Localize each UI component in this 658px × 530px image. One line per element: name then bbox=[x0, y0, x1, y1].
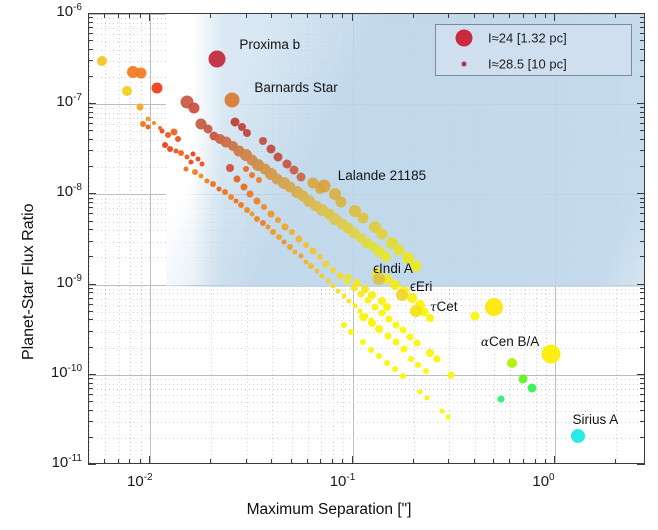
data-point bbox=[158, 126, 162, 130]
data-point bbox=[385, 315, 392, 322]
data-point bbox=[226, 164, 234, 172]
y-tick-minor-right bbox=[640, 241, 645, 242]
legend-marker-small bbox=[462, 62, 467, 67]
y-tick-minor bbox=[88, 241, 93, 242]
data-point bbox=[408, 356, 414, 362]
y-tick-minor bbox=[88, 388, 93, 389]
y-tick-minor bbox=[88, 256, 93, 257]
scatter-plot-figure: Proxima bBarnards StarLalande 21185ϵIndi… bbox=[0, 0, 658, 530]
y-tick-minor-right bbox=[640, 410, 645, 411]
plot-area: Proxima bBarnards StarLalande 21185ϵIndi… bbox=[88, 13, 645, 464]
y-tick-minor-right bbox=[640, 229, 645, 230]
x-tick-minor bbox=[523, 459, 524, 464]
x-tick-label: 10-2 bbox=[127, 472, 153, 490]
x-tick-minor-top bbox=[509, 13, 510, 18]
data-point-named bbox=[485, 298, 503, 316]
x-tick-minor-top bbox=[615, 13, 616, 18]
grid-minor-horizontal bbox=[89, 438, 644, 439]
y-tick-minor bbox=[88, 166, 93, 167]
grid-minor-horizontal bbox=[89, 384, 644, 385]
grid-minor-horizontal bbox=[89, 203, 644, 204]
y-axis-label: Planet-Star Flux Ratio bbox=[20, 203, 38, 360]
y-tick-minor bbox=[88, 331, 93, 332]
y-tick-minor bbox=[88, 150, 93, 151]
y-tick-major bbox=[88, 464, 96, 465]
data-point bbox=[260, 220, 266, 226]
y-tick-minor bbox=[88, 49, 93, 50]
data-point bbox=[298, 254, 303, 259]
y-tick-minor bbox=[88, 112, 93, 113]
legend-marker-large bbox=[456, 30, 473, 47]
data-point bbox=[192, 169, 198, 175]
y-tick-major-right bbox=[637, 284, 645, 285]
x-tick-minor-top bbox=[271, 13, 272, 18]
x-tick-minor-top bbox=[448, 13, 449, 18]
data-point bbox=[287, 244, 293, 250]
data-point bbox=[423, 368, 429, 374]
data-point bbox=[361, 285, 369, 293]
grid-minor-horizontal bbox=[89, 124, 644, 125]
data-point bbox=[266, 144, 275, 153]
data-point bbox=[507, 358, 517, 368]
data-point bbox=[368, 319, 376, 327]
data-point bbox=[359, 313, 367, 321]
data-point bbox=[320, 273, 325, 278]
y-tick-minor-right bbox=[640, 130, 645, 131]
data-point-named bbox=[410, 305, 422, 317]
y-tick-minor-right bbox=[640, 60, 645, 61]
x-tick-minor bbox=[474, 459, 475, 464]
y-tick-minor-right bbox=[640, 107, 645, 108]
y-tick-label: 10-7 bbox=[32, 92, 82, 110]
grid-minor-horizontal bbox=[89, 208, 644, 209]
data-point bbox=[249, 212, 254, 217]
data-point bbox=[247, 191, 254, 198]
data-point bbox=[261, 204, 267, 210]
grid-minor-horizontal bbox=[89, 199, 644, 200]
grid-minor-horizontal bbox=[89, 348, 644, 349]
data-point bbox=[183, 167, 188, 172]
data-point bbox=[170, 129, 177, 136]
data-point bbox=[243, 166, 249, 172]
x-tick-major-top bbox=[554, 13, 555, 21]
data-point bbox=[266, 225, 271, 230]
data-point bbox=[439, 408, 444, 413]
data-point-named bbox=[225, 93, 240, 108]
annotation-label: ϵIndi A bbox=[373, 261, 413, 276]
y-tick-minor-right bbox=[640, 40, 645, 41]
grid-minor-horizontal bbox=[89, 402, 644, 403]
data-point bbox=[406, 334, 413, 341]
x-tick-minor-top bbox=[307, 13, 308, 18]
data-point bbox=[199, 162, 204, 167]
data-point-named bbox=[396, 289, 408, 301]
grid-minor-horizontal bbox=[89, 230, 644, 231]
data-point bbox=[393, 339, 400, 346]
data-point bbox=[233, 175, 240, 182]
x-tick-major bbox=[554, 456, 555, 464]
x-tick-minor-top bbox=[210, 13, 211, 18]
grid-minor-horizontal bbox=[89, 118, 644, 119]
data-point bbox=[314, 269, 319, 274]
grid-minor-horizontal bbox=[89, 140, 644, 141]
data-point bbox=[274, 152, 283, 161]
data-point bbox=[331, 284, 336, 289]
y-tick-minor-right bbox=[640, 202, 645, 203]
data-point bbox=[433, 355, 440, 362]
data-point bbox=[309, 248, 316, 255]
x-tick-major bbox=[352, 456, 353, 464]
data-point bbox=[337, 272, 344, 279]
x-tick-minor bbox=[320, 459, 321, 464]
grid-minor-horizontal bbox=[89, 305, 644, 306]
y-tick-minor bbox=[88, 213, 93, 214]
y-tick-minor-right bbox=[640, 288, 645, 289]
y-tick-label: 10-11 bbox=[32, 453, 82, 471]
data-point bbox=[191, 152, 196, 157]
data-point bbox=[413, 340, 420, 347]
data-point-named bbox=[571, 429, 585, 443]
data-point-named bbox=[541, 345, 560, 364]
y-tick-minor bbox=[88, 139, 93, 140]
data-point bbox=[175, 136, 181, 142]
y-tick-major bbox=[88, 284, 96, 285]
grid-major-horizontal bbox=[89, 14, 644, 15]
y-tick-minor-right bbox=[640, 311, 645, 312]
data-point bbox=[383, 303, 391, 311]
data-point bbox=[360, 339, 366, 345]
grid-minor-horizontal bbox=[89, 113, 644, 114]
data-point bbox=[122, 86, 132, 96]
y-tick-minor-right bbox=[640, 437, 645, 438]
y-tick-minor-right bbox=[640, 198, 645, 199]
x-tick-minor-top bbox=[246, 13, 247, 18]
y-tick-minor-right bbox=[640, 304, 645, 305]
y-tick-minor bbox=[88, 60, 93, 61]
y-tick-major-right bbox=[637, 193, 645, 194]
x-tick-minor-top bbox=[332, 13, 333, 18]
y-tick-minor-right bbox=[640, 331, 645, 332]
data-point bbox=[151, 83, 162, 94]
y-tick-minor-right bbox=[640, 22, 645, 23]
y-tick-minor bbox=[88, 401, 93, 402]
y-tick-minor-right bbox=[640, 123, 645, 124]
y-tick-minor bbox=[88, 229, 93, 230]
data-point bbox=[445, 415, 450, 420]
y-tick-minor bbox=[88, 207, 93, 208]
data-point bbox=[400, 373, 406, 379]
data-point bbox=[424, 395, 429, 400]
data-point bbox=[317, 254, 323, 260]
y-tick-minor bbox=[88, 130, 93, 131]
x-tick-minor bbox=[307, 459, 308, 464]
y-tick-minor-right bbox=[640, 383, 645, 384]
y-tick-minor bbox=[88, 292, 93, 293]
x-tick-label: 10-1 bbox=[330, 472, 356, 490]
x-tick-minor-top bbox=[342, 13, 343, 18]
x-tick-minor-top bbox=[413, 13, 414, 18]
y-tick-minor bbox=[88, 221, 93, 222]
y-tick-minor-right bbox=[640, 17, 645, 18]
x-tick-minor-top bbox=[493, 13, 494, 18]
y-tick-minor-right bbox=[640, 207, 645, 208]
y-tick-minor-right bbox=[640, 139, 645, 140]
data-point bbox=[418, 389, 423, 394]
y-tick-minor bbox=[88, 17, 93, 18]
y-tick-minor bbox=[88, 22, 93, 23]
x-tick-minor bbox=[210, 459, 211, 464]
grid-minor-horizontal bbox=[89, 108, 644, 109]
y-tick-minor-right bbox=[640, 319, 645, 320]
data-point bbox=[244, 207, 250, 213]
y-tick-minor bbox=[88, 288, 93, 289]
data-point bbox=[297, 173, 306, 182]
data-point bbox=[368, 347, 374, 353]
data-point bbox=[376, 353, 382, 359]
legend-label-far: I≈28.5 [10 pc] bbox=[488, 57, 567, 72]
x-tick-minor bbox=[129, 459, 130, 464]
y-tick-minor bbox=[88, 27, 93, 28]
data-point bbox=[353, 279, 361, 287]
data-point bbox=[325, 278, 330, 283]
x-tick-label: 100 bbox=[532, 472, 554, 490]
data-point bbox=[281, 223, 288, 230]
annotation-label: Lalande 21185 bbox=[338, 168, 426, 183]
x-tick-minor bbox=[545, 459, 546, 464]
y-tick-major bbox=[88, 193, 96, 194]
y-tick-minor bbox=[88, 33, 93, 34]
x-tick-minor-top bbox=[118, 13, 119, 18]
data-point bbox=[268, 210, 275, 217]
y-tick-minor-right bbox=[640, 49, 645, 50]
x-tick-minor bbox=[271, 459, 272, 464]
data-point bbox=[392, 321, 399, 328]
y-tick-minor bbox=[88, 421, 93, 422]
data-point bbox=[230, 117, 239, 126]
grid-minor-horizontal bbox=[89, 332, 644, 333]
x-axis-label: Maximum Separation ["] bbox=[0, 501, 658, 519]
data-point bbox=[256, 177, 262, 183]
y-tick-minor-right bbox=[640, 27, 645, 28]
data-point bbox=[348, 329, 354, 335]
grid-minor-horizontal bbox=[89, 77, 644, 78]
y-tick-minor-right bbox=[640, 213, 645, 214]
legend-entry-near: I≈24 [1.32 pc] bbox=[436, 25, 631, 51]
x-tick-minor bbox=[615, 459, 616, 464]
grid-minor-horizontal bbox=[89, 411, 644, 412]
data-point bbox=[415, 362, 421, 368]
data-point bbox=[228, 194, 234, 200]
grid-minor-horizontal bbox=[89, 379, 644, 380]
x-tick-minor bbox=[291, 459, 292, 464]
data-point bbox=[276, 234, 282, 240]
y-tick-minor bbox=[88, 304, 93, 305]
legend-label-near: I≈24 [1.32 pc] bbox=[488, 31, 567, 46]
data-point bbox=[447, 371, 454, 378]
data-point bbox=[371, 303, 378, 310]
x-tick-minor bbox=[535, 459, 536, 464]
y-tick-minor bbox=[88, 410, 93, 411]
grid-minor-horizontal bbox=[89, 389, 644, 390]
y-tick-minor bbox=[88, 394, 93, 395]
y-tick-label: 10-9 bbox=[32, 273, 82, 291]
data-point bbox=[352, 303, 357, 308]
x-tick-minor-top bbox=[320, 13, 321, 18]
data-point bbox=[222, 189, 228, 195]
y-tick-minor-right bbox=[640, 378, 645, 379]
x-tick-minor bbox=[342, 459, 343, 464]
y-tick-minor bbox=[88, 437, 93, 438]
annotation-label: τCet bbox=[430, 299, 458, 314]
x-tick-major-top bbox=[352, 13, 353, 21]
data-point bbox=[341, 293, 346, 298]
y-tick-minor bbox=[88, 311, 93, 312]
data-point bbox=[240, 184, 247, 191]
y-tick-major-right bbox=[637, 103, 645, 104]
data-point bbox=[146, 117, 151, 122]
data-point bbox=[401, 345, 408, 352]
data-point bbox=[426, 314, 434, 322]
grid-major-horizontal bbox=[89, 375, 644, 376]
y-tick-minor bbox=[88, 117, 93, 118]
y-tick-minor-right bbox=[640, 347, 645, 348]
data-point bbox=[249, 172, 255, 178]
data-point bbox=[330, 267, 336, 273]
data-point bbox=[308, 263, 314, 269]
grid-minor-horizontal bbox=[89, 18, 644, 19]
y-tick-major-right bbox=[637, 464, 645, 465]
annotation-label: Proxima b bbox=[239, 37, 300, 52]
data-point-named bbox=[317, 179, 330, 192]
y-tick-label: 10-10 bbox=[32, 363, 82, 381]
grid-major-horizontal bbox=[89, 104, 644, 105]
data-point bbox=[399, 327, 406, 334]
data-point bbox=[275, 217, 281, 223]
y-tick-label: 10-8 bbox=[32, 182, 82, 200]
data-point bbox=[384, 360, 390, 366]
grid-minor-horizontal bbox=[89, 151, 644, 152]
y-tick-minor bbox=[88, 76, 93, 77]
x-tick-minor bbox=[509, 459, 510, 464]
data-point bbox=[293, 249, 298, 254]
data-point bbox=[303, 242, 309, 248]
x-tick-minor bbox=[413, 459, 414, 464]
data-point bbox=[336, 197, 347, 208]
data-point bbox=[392, 366, 398, 372]
data-point bbox=[210, 181, 216, 187]
y-tick-major-right bbox=[637, 374, 645, 375]
x-tick-minor bbox=[118, 459, 119, 464]
data-point bbox=[136, 103, 143, 110]
y-tick-major-right bbox=[637, 13, 645, 14]
grid-minor-horizontal bbox=[89, 257, 644, 258]
y-tick-minor-right bbox=[640, 388, 645, 389]
grid-minor-horizontal bbox=[89, 395, 644, 396]
y-tick-minor bbox=[88, 107, 93, 108]
data-point bbox=[189, 159, 194, 164]
y-tick-minor-right bbox=[640, 401, 645, 402]
y-tick-major bbox=[88, 13, 96, 14]
x-tick-minor bbox=[448, 459, 449, 464]
x-tick-major bbox=[149, 456, 150, 464]
data-point bbox=[385, 332, 392, 339]
y-tick-label: 10-6 bbox=[32, 2, 82, 20]
annotation-label: Sirius A bbox=[572, 412, 618, 427]
data-point bbox=[347, 298, 352, 303]
data-point bbox=[204, 179, 209, 184]
data-point bbox=[178, 150, 184, 156]
grid-minor-horizontal bbox=[89, 320, 644, 321]
data-point bbox=[303, 259, 308, 264]
x-tick-minor-top bbox=[104, 13, 105, 18]
data-point bbox=[336, 288, 341, 293]
y-tick-minor bbox=[88, 319, 93, 320]
legend-box: I≈24 [1.32 pc] I≈28.5 [10 pc] bbox=[435, 24, 632, 76]
y-tick-minor bbox=[88, 378, 93, 379]
data-point bbox=[146, 124, 151, 129]
data-point bbox=[426, 349, 434, 357]
data-point bbox=[470, 311, 479, 320]
y-tick-minor-right bbox=[640, 150, 645, 151]
y-tick-minor bbox=[88, 198, 93, 199]
x-tick-minor bbox=[246, 459, 247, 464]
data-point bbox=[323, 260, 330, 267]
annotation-label: Barnards Star bbox=[254, 80, 337, 95]
y-tick-minor bbox=[88, 202, 93, 203]
data-point bbox=[259, 137, 267, 145]
data-point bbox=[498, 395, 505, 402]
annotation-label: αCen B/A bbox=[481, 334, 539, 349]
grid-minor-horizontal bbox=[89, 422, 644, 423]
y-tick-minor-right bbox=[640, 298, 645, 299]
y-tick-minor-right bbox=[640, 76, 645, 77]
y-tick-minor-right bbox=[640, 292, 645, 293]
x-tick-minor bbox=[332, 459, 333, 464]
x-tick-minor-top bbox=[545, 13, 546, 18]
y-tick-minor-right bbox=[640, 117, 645, 118]
y-tick-major bbox=[88, 374, 96, 375]
data-point bbox=[184, 154, 189, 159]
y-tick-major bbox=[88, 103, 96, 104]
data-point bbox=[295, 236, 302, 243]
x-tick-minor-top bbox=[474, 13, 475, 18]
x-tick-minor bbox=[104, 459, 105, 464]
x-tick-major-top bbox=[149, 13, 150, 21]
data-point bbox=[254, 197, 261, 204]
grid-major-horizontal bbox=[89, 194, 644, 195]
data-point bbox=[341, 322, 347, 328]
data-point bbox=[195, 156, 200, 161]
data-point-named bbox=[209, 50, 226, 67]
y-tick-minor bbox=[88, 298, 93, 299]
y-tick-minor bbox=[88, 383, 93, 384]
y-tick-minor-right bbox=[640, 394, 645, 395]
y-tick-minor-right bbox=[640, 221, 645, 222]
data-point bbox=[518, 374, 527, 383]
data-point bbox=[357, 212, 368, 223]
data-point bbox=[135, 68, 146, 79]
x-tick-minor-top bbox=[129, 13, 130, 18]
data-point bbox=[368, 291, 376, 299]
data-point bbox=[238, 123, 246, 131]
x-tick-minor bbox=[140, 459, 141, 464]
x-tick-minor-top bbox=[535, 13, 536, 18]
y-tick-minor-right bbox=[640, 33, 645, 34]
data-point bbox=[528, 383, 537, 392]
data-point bbox=[282, 239, 287, 244]
data-point bbox=[375, 325, 383, 333]
y-tick-minor-right bbox=[640, 166, 645, 167]
